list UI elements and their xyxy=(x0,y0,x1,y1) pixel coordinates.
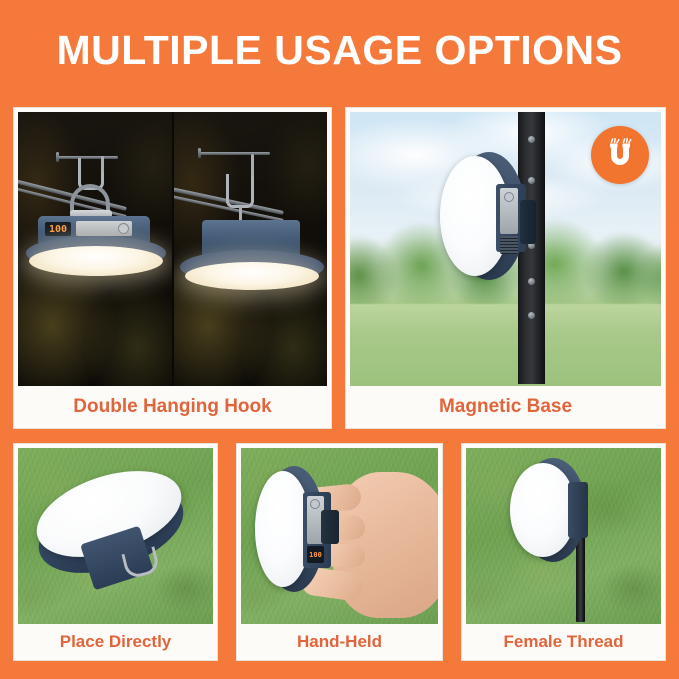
magnet-badge xyxy=(591,126,649,184)
sub-image-front-view: 100 xyxy=(18,112,172,386)
photo-female-thread xyxy=(466,448,661,624)
lamp-front: 100 xyxy=(26,184,166,294)
split-image-container: 100 xyxy=(18,112,327,386)
lamp-light-diffuser-rear xyxy=(185,262,319,290)
lamp-placed xyxy=(24,462,204,602)
lamp-magnet-mount xyxy=(520,200,536,244)
photo-magnetic-base xyxy=(350,112,661,386)
panel-magnetic-base[interactable]: Magnetic Base xyxy=(345,107,666,429)
hook-arm-tip-icon-2 xyxy=(198,148,201,158)
post-hole-6 xyxy=(528,312,535,319)
caption-double-hanging-hook: Double Hanging Hook xyxy=(14,386,331,428)
lamp-handheld: 100 xyxy=(255,466,351,596)
hook-arm-tip-icon xyxy=(56,152,59,162)
panel-hand-held[interactable]: 100 Hand-Held xyxy=(236,443,443,661)
caption-hand-held: Hand-Held xyxy=(237,624,442,660)
outdoor-scene xyxy=(350,112,661,386)
lamp-on-pole xyxy=(506,458,606,564)
hook-stem-icon-2 xyxy=(251,154,254,176)
lamp-power-button-handheld-icon xyxy=(310,499,320,509)
lamp-thread-mount xyxy=(568,482,588,538)
lamp-mount-knob xyxy=(321,510,339,544)
lamp-side-power-button-icon xyxy=(504,192,514,202)
photo-place-directly xyxy=(18,448,213,624)
photo-hand-held: 100 xyxy=(241,448,438,624)
lamp-light-diffuser xyxy=(29,246,163,276)
caption-magnetic-base: Magnetic Base xyxy=(346,386,665,428)
photo-double-hanging-hook: 100 xyxy=(18,112,327,386)
page-title: MULTIPLE USAGE OPTIONS xyxy=(56,27,622,74)
magnet-icon xyxy=(602,137,638,173)
sub-image-rear-view xyxy=(174,112,328,386)
panel-place-directly[interactable]: Place Directly xyxy=(13,443,218,661)
lamp-light-face-pole xyxy=(510,463,576,557)
lawn xyxy=(350,304,661,386)
hook-stem-icon xyxy=(101,156,104,172)
hook-arm-icon-2 xyxy=(198,152,270,155)
header-banner: MULTIPLE USAGE OPTIONS xyxy=(0,0,679,100)
post-hole-1 xyxy=(528,136,535,143)
lamp-rear xyxy=(180,220,324,298)
caption-female-thread: Female Thread xyxy=(462,624,665,660)
caption-place-directly: Place Directly xyxy=(14,624,217,660)
panel-double-hanging-hook[interactable]: 100 xyxy=(13,107,332,429)
lamp-lcd-display: 100 xyxy=(45,222,71,236)
lamp-power-button-icon xyxy=(118,223,129,234)
hook-u-icon-2 xyxy=(226,174,254,208)
lamp-speaker-grille-icon xyxy=(500,236,518,254)
lamp-lcd-handheld: 100 xyxy=(307,546,324,563)
product-feature-graphic: MULTIPLE USAGE OPTIONS xyxy=(0,0,679,679)
panel-female-thread[interactable]: Female Thread xyxy=(461,443,666,661)
lamp-magnetic xyxy=(436,152,546,282)
